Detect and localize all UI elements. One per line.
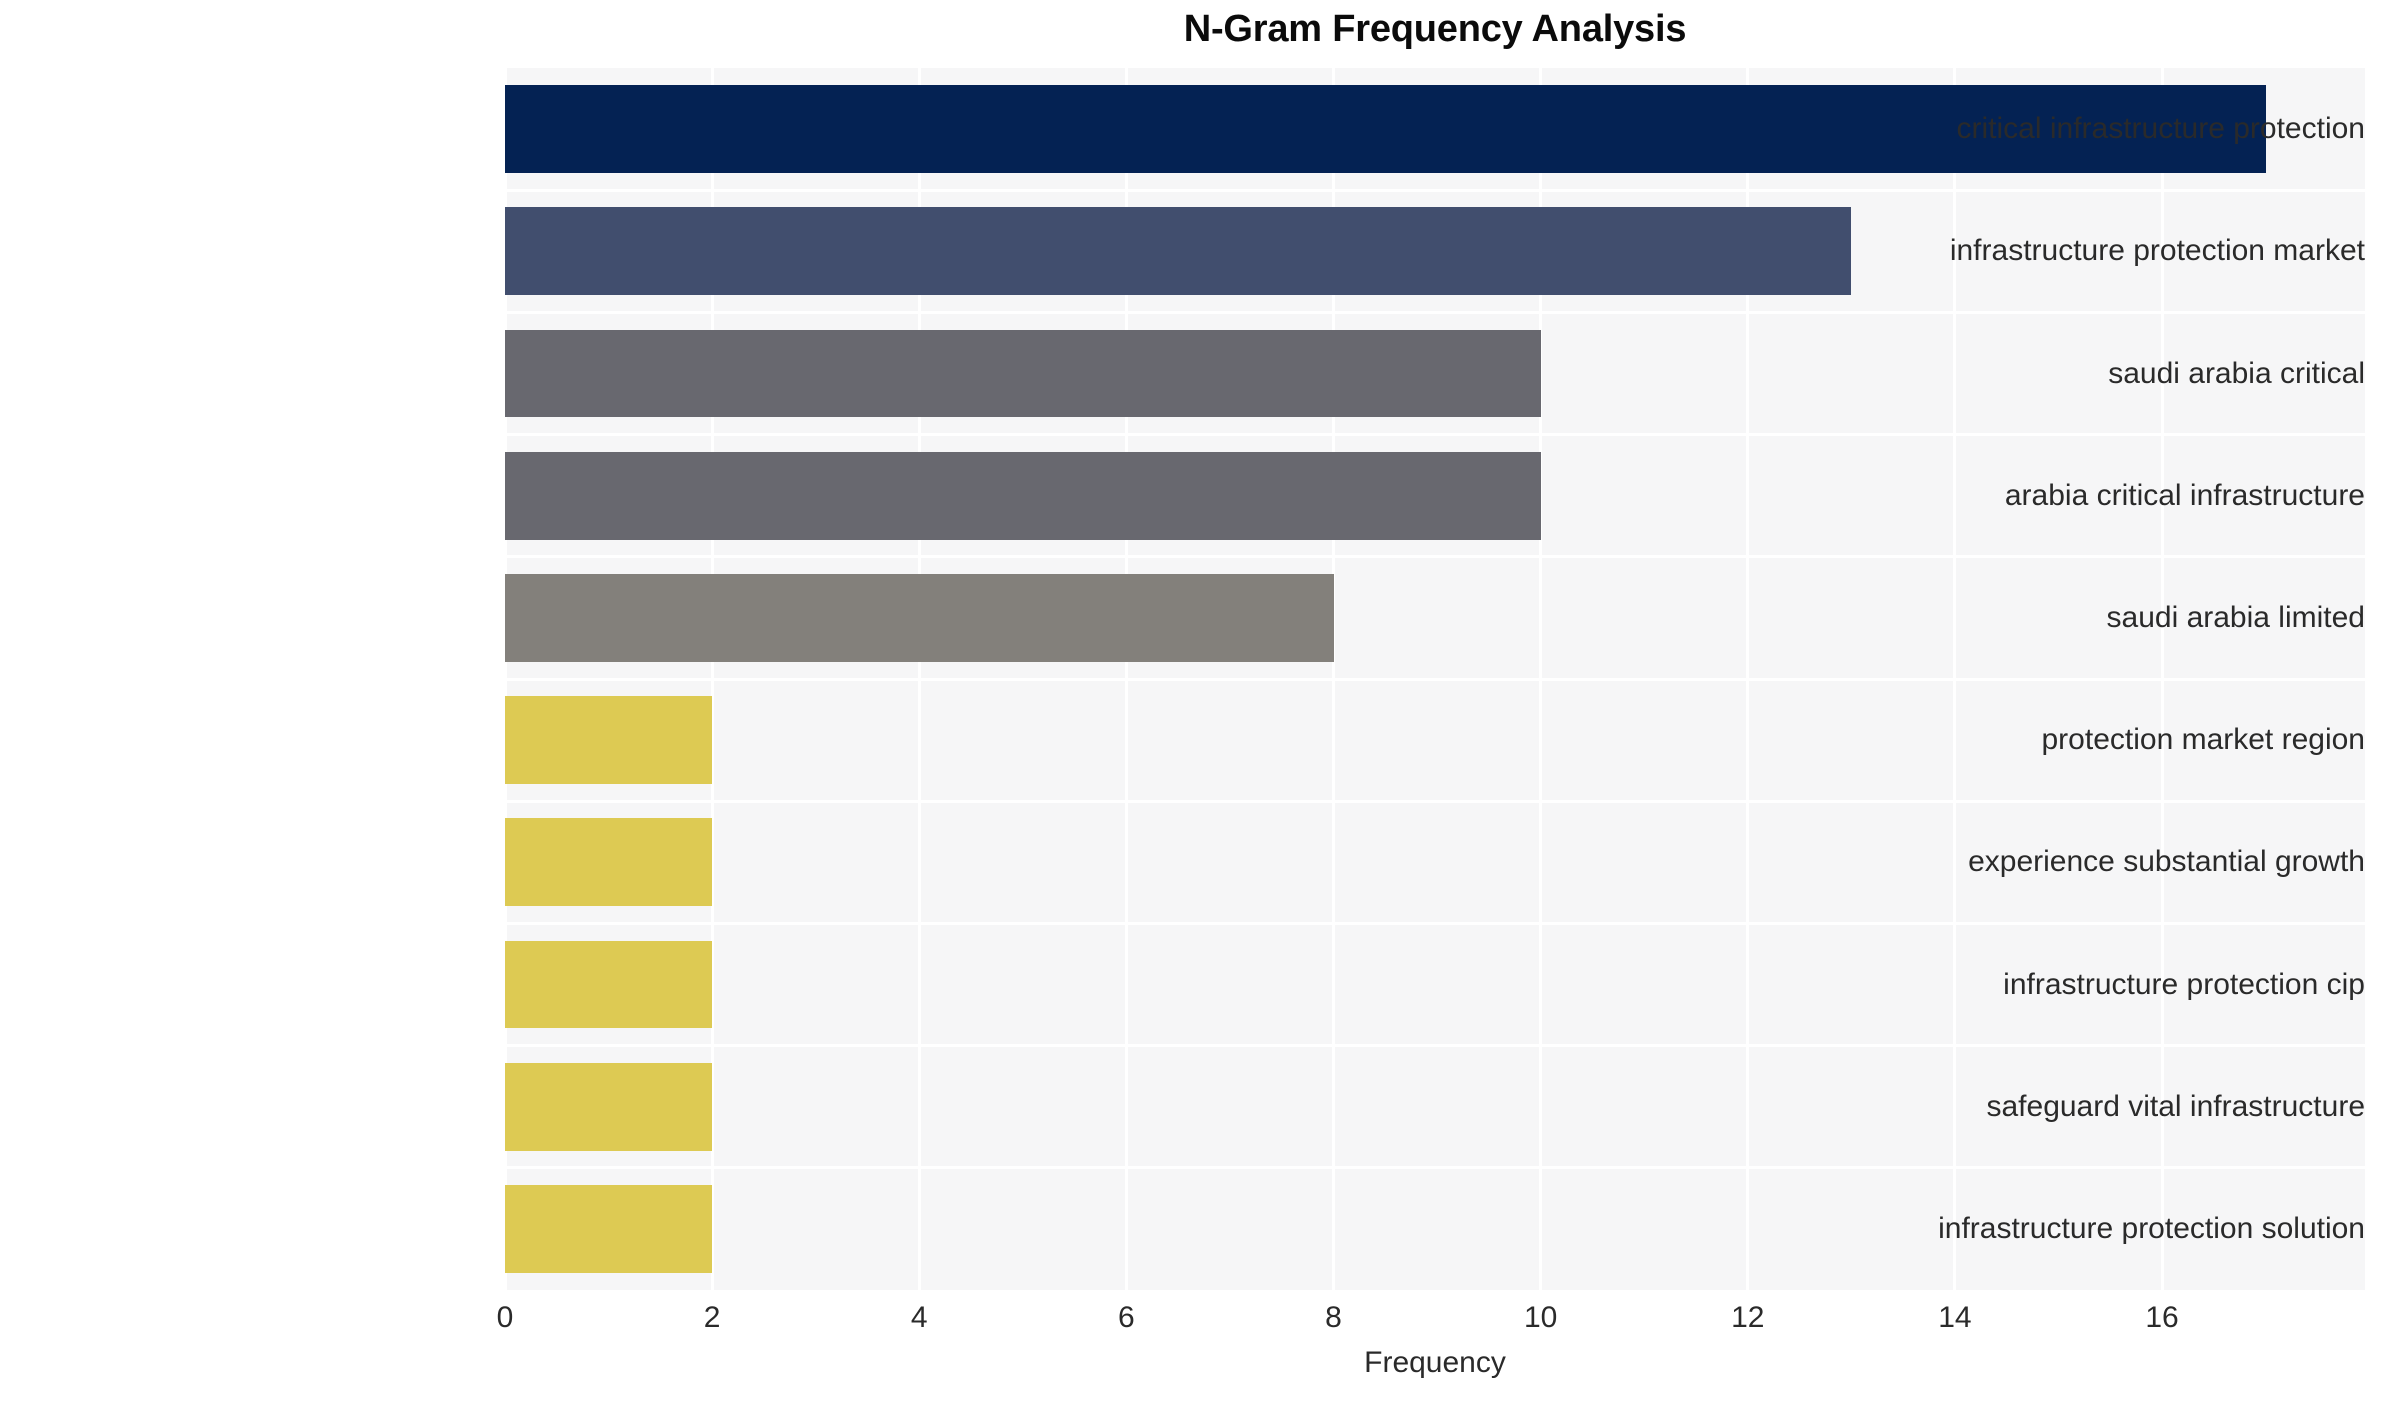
x-tick-label-3: 6	[1066, 1300, 1186, 1336]
y-tick-label-0: critical infrastructure protection	[1888, 112, 2383, 146]
x-tick-label-6: 12	[1688, 1300, 1808, 1336]
x-tick-label-2: 4	[859, 1300, 979, 1336]
gridline-horizontal-5	[505, 678, 2365, 681]
gridline-horizontal-4	[505, 555, 2365, 558]
bar-3	[505, 452, 1541, 540]
gridline-horizontal-3	[505, 433, 2365, 436]
y-tick-label-1: infrastructure protection market	[1888, 234, 2383, 268]
y-tick-label-2: saudi arabia critical	[1888, 357, 2383, 391]
gridline-horizontal-9	[505, 1166, 2365, 1169]
x-tick-label-8: 16	[2102, 1300, 2222, 1336]
bar-1	[505, 207, 1851, 295]
y-tick-label-5: protection market region	[1888, 723, 2383, 757]
x-tick-label-5: 10	[1481, 1300, 1601, 1336]
chart-title: N-Gram Frequency Analysis	[505, 4, 2365, 54]
x-axis-title: Frequency	[505, 1345, 2365, 1381]
y-tick-label-7: infrastructure protection cip	[1888, 968, 2383, 1002]
bar-9	[505, 1185, 712, 1273]
bar-4	[505, 574, 1334, 662]
gridline-horizontal-8	[505, 1044, 2365, 1047]
y-tick-label-8: safeguard vital infrastructure	[1888, 1090, 2383, 1124]
y-tick-label-3: arabia critical infrastructure	[1888, 479, 2383, 513]
bar-2	[505, 330, 1541, 418]
y-tick-label-9: infrastructure protection solution	[1888, 1212, 2383, 1246]
gridline-horizontal-1	[505, 189, 2365, 192]
x-tick-label-4: 8	[1274, 1300, 1394, 1336]
bar-7	[505, 941, 712, 1029]
bar-8	[505, 1063, 712, 1151]
x-tick-label-7: 14	[1895, 1300, 2015, 1336]
bar-5	[505, 696, 712, 784]
gridline-horizontal-7	[505, 922, 2365, 925]
x-tick-label-1: 2	[652, 1300, 772, 1336]
chart-figure: N-Gram Frequency Analysis critical infra…	[0, 0, 2383, 1402]
bar-6	[505, 818, 712, 906]
y-tick-label-4: saudi arabia limited	[1888, 601, 2383, 635]
x-tick-label-0: 0	[445, 1300, 565, 1336]
gridline-horizontal-2	[505, 311, 2365, 314]
y-tick-label-6: experience substantial growth	[1888, 845, 2383, 879]
gridline-horizontal-6	[505, 800, 2365, 803]
